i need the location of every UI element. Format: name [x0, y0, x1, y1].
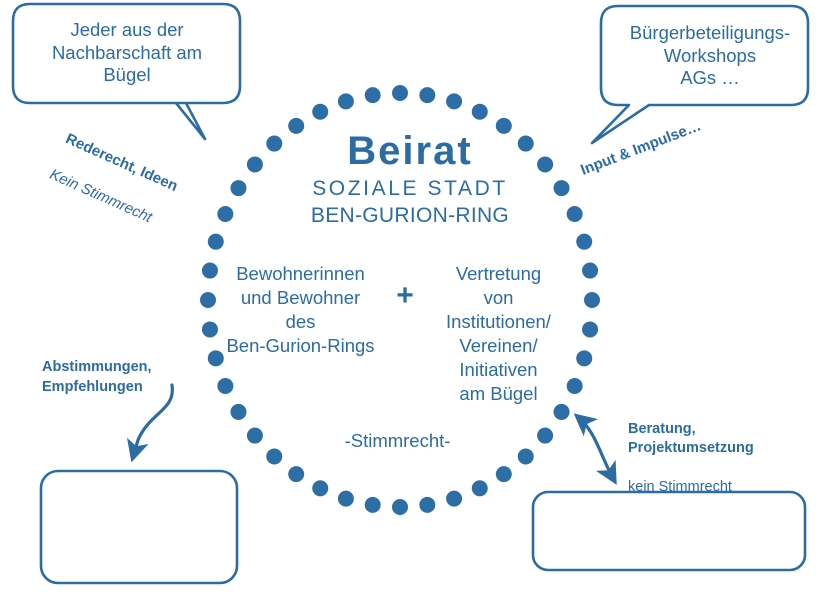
ring-dot	[247, 156, 263, 172]
plus-symbol: +	[390, 278, 420, 315]
ring-dot	[217, 378, 233, 394]
annotation-beratung-kein-stimmrecht: kein Stimmrecht	[628, 478, 804, 498]
ring-dot	[554, 404, 570, 420]
ring-dot	[582, 263, 598, 279]
annotation-abstimmungen-empfehlungen: Abstimmungen, Empfehlungen	[42, 358, 192, 397]
ring-dot	[419, 87, 435, 103]
bubble-top-right-text: Bürgerbeteiligungs- Workshops AGs …	[607, 22, 813, 90]
ring-title: Beirat	[265, 127, 555, 176]
annotation-beratung-bold: Beratung, Projektumsetzung	[628, 420, 804, 459]
ring-dot	[576, 350, 592, 366]
ring-dot	[537, 428, 553, 444]
ring-dot	[365, 497, 381, 513]
ring-subtitle-ben-gurion-ring: BEN-GURION-RING	[265, 203, 555, 229]
ring-dot	[338, 93, 354, 109]
ring-dot	[554, 180, 570, 196]
ring-dot	[392, 499, 408, 515]
ring-dot	[288, 466, 304, 482]
ring-dot	[446, 93, 462, 109]
ring-dot	[518, 448, 534, 464]
ring-dot	[365, 87, 381, 103]
ring-dot	[584, 292, 600, 308]
ring-dot	[419, 497, 435, 513]
ring-dot	[392, 85, 408, 101]
ring-dot	[338, 491, 354, 507]
ring-dot	[230, 404, 246, 420]
ring-dot	[567, 206, 583, 222]
ring-column-residents: Bewohnerinnen und Bewohner des Ben-Gurio…	[213, 262, 388, 358]
ring-dot	[472, 104, 488, 120]
ring-dot	[446, 491, 462, 507]
ring-dot	[247, 428, 263, 444]
ring-dot	[496, 466, 512, 482]
ring-column-institutions: Vertretung von Institutionen/ Vereinen/ …	[422, 262, 575, 406]
ring-footnote-stimmrecht: -Stimmrecht-	[290, 430, 505, 453]
annotation-beratung: Beratung, Projektumsetzung kein Stimmrec…	[628, 400, 804, 517]
ring-dot	[312, 104, 328, 120]
ring-dot	[312, 480, 328, 496]
ring-subtitle-soziale-stadt: SOZIALE STADT	[265, 176, 555, 202]
ring-dot	[472, 480, 488, 496]
diagram-canvas: Jeder aus der Nachbarschaft am Bügel Bür…	[0, 0, 820, 600]
arrow-ring-stadtplanungsamt	[578, 417, 614, 480]
box-bottom-left[interactable]	[41, 471, 237, 583]
ring-dot	[582, 321, 598, 337]
ring-dot	[266, 448, 282, 464]
ring-dot	[576, 234, 592, 250]
bubble-top-left-text: Jeder aus der Nachbarschaft am Bügel	[20, 19, 234, 87]
